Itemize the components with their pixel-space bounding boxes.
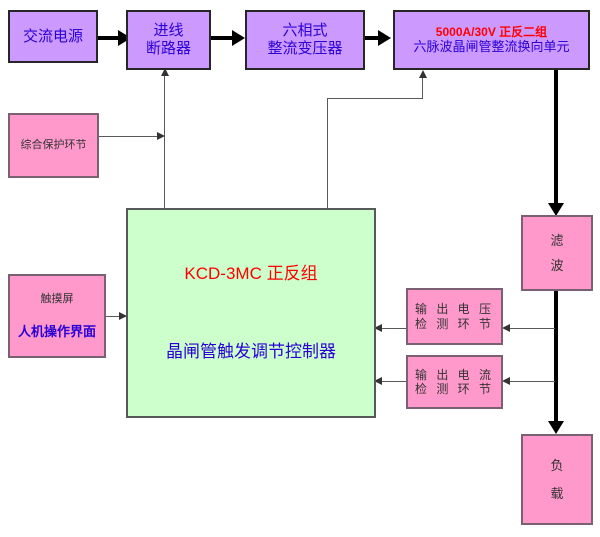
block-ac-power-line1: 交流电源 — [23, 28, 83, 46]
connector-output-to-voltage — [508, 328, 555, 329]
block-filter-line2: 波 — [550, 258, 563, 273]
block-incoming-breaker-line1: 进线 — [153, 22, 183, 40]
connector-controller-to-thyristor-run — [327, 98, 423, 99]
block-protection[interactable]: 综合保护环节 — [8, 113, 99, 178]
block-controller-line1: KCD-3MC 正反组 — [184, 264, 317, 284]
arrowhead-filter-to-load — [548, 421, 564, 434]
block-voltage-detect-line2: 检 测 环 节 — [415, 317, 494, 331]
arrowhead-output-to-voltage — [502, 324, 510, 332]
block-rect-transformer[interactable]: 六相式 整流变压器 — [245, 10, 365, 70]
connector-thyristor-to-filter — [554, 70, 558, 206]
block-voltage-detect[interactable]: 输 出 电 压 检 测 环 节 — [406, 288, 503, 345]
block-current-detect[interactable]: 输 出 电 流 检 测 环 节 — [406, 355, 503, 409]
connector-controller-to-breaker-riser — [164, 75, 165, 209]
block-touch-screen-line2: 人机操作界面 — [18, 324, 96, 339]
block-load[interactable]: 负 载 — [521, 434, 593, 525]
block-thyristor-unit[interactable]: 5000A/30V 正反二组 六脉波晶闸管整流换向单元 — [393, 10, 590, 70]
block-rect-transformer-line2: 整流变压器 — [267, 40, 342, 58]
arrowhead-breaker-to-transformer — [232, 30, 245, 46]
block-load-line2: 载 — [550, 486, 563, 501]
block-thyristor-unit-line2: 六脉波晶闸管整流换向单元 — [413, 39, 569, 54]
connector-filter-to-load — [554, 291, 558, 423]
connector-protection-to-breaker — [99, 136, 160, 137]
arrowhead-controller-to-thyristor — [419, 70, 427, 78]
block-voltage-detect-line1: 输 出 电 压 — [415, 302, 494, 316]
block-touch-screen-line1: 触摸屏 — [41, 293, 74, 306]
block-controller[interactable]: KCD-3MC 正反组 晶闸管触发调节控制器 — [126, 208, 376, 418]
block-incoming-breaker[interactable]: 进线 断路器 — [126, 10, 211, 70]
block-touch-screen[interactable]: 触摸屏 人机操作界面 — [8, 274, 106, 358]
connector-ac-to-breaker — [98, 36, 120, 40]
arrowhead-protection-to-breaker — [157, 132, 165, 140]
block-diagram-canvas: 交流电源 进线 断路器 六相式 整流变压器 5000A/30V 正反二组 六脉波… — [0, 0, 600, 537]
block-filter[interactable]: 滤 波 — [521, 215, 593, 291]
block-controller-line2: 晶闸管触发调节控制器 — [166, 342, 336, 362]
block-filter-line1: 滤 — [550, 233, 563, 248]
arrowhead-output-to-current — [502, 377, 510, 385]
block-rect-transformer-line1: 六相式 — [282, 22, 327, 40]
connector-output-to-current — [508, 381, 555, 382]
block-current-detect-line2: 检 测 环 节 — [415, 382, 494, 396]
block-protection-line1: 综合保护环节 — [21, 139, 87, 152]
block-ac-power[interactable]: 交流电源 — [8, 10, 98, 63]
block-current-detect-line1: 输 出 电 流 — [415, 368, 494, 382]
arrowhead-transformer-to-thyristor — [378, 30, 391, 46]
block-load-line1: 负 — [550, 458, 563, 473]
connector-controller-to-thyristor-drop — [422, 78, 423, 99]
block-thyristor-unit-line1: 5000A/30V 正反二组 — [436, 25, 547, 39]
connector-controller-to-thyristor-riser — [327, 98, 328, 209]
block-incoming-breaker-line2: 断路器 — [146, 40, 191, 58]
